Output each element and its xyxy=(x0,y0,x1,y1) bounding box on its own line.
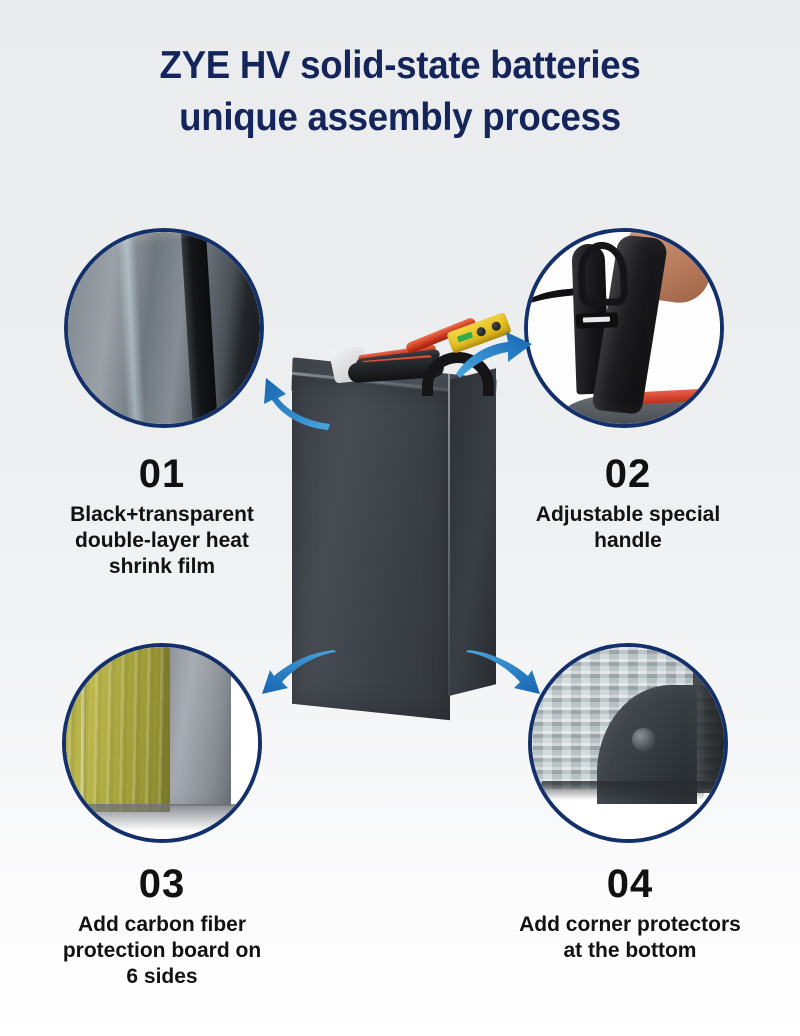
arrow-to-step-01-icon xyxy=(252,372,332,432)
infographic-poster: ZYE HV solid-state batteries unique asse… xyxy=(0,0,800,1036)
step-description-02: Adjustable special handle xyxy=(478,502,778,554)
callout-step-04 xyxy=(528,643,728,843)
callout-step-01 xyxy=(64,228,264,428)
step-description-03: Add carbon fiber protection board on 6 s… xyxy=(12,912,312,990)
photo-carbon-fiber-board xyxy=(66,647,258,839)
photo-circle-02 xyxy=(524,228,724,428)
photo-heat-shrink-film xyxy=(68,232,260,424)
arrow-to-step-04-icon xyxy=(462,648,546,708)
label-step-02: 02 Adjustable special handle xyxy=(478,452,778,554)
arrow-to-step-03-icon xyxy=(256,648,340,708)
page-title: ZYE HV solid-state batteries unique asse… xyxy=(24,40,776,144)
step-description-04: Add corner protectors at the bottom xyxy=(480,912,780,964)
photo-circle-03 xyxy=(62,643,262,843)
label-step-01: 01 Black+transparent double-layer heat s… xyxy=(12,452,312,580)
photo-corner-protector xyxy=(532,647,724,839)
battery-side-face xyxy=(450,368,496,695)
label-step-03: 03 Add carbon fiber protection board on … xyxy=(12,862,312,990)
photo-circle-04 xyxy=(528,643,728,843)
step-number-03: 03 xyxy=(12,862,312,906)
callout-step-02 xyxy=(524,228,724,428)
step-description-01: Black+transparent double-layer heat shri… xyxy=(12,502,312,580)
photo-velcro-handle xyxy=(528,232,720,424)
callout-step-03 xyxy=(62,643,262,843)
label-step-04: 04 Add corner protectors at the bottom xyxy=(480,862,780,964)
photo-circle-01 xyxy=(64,228,264,428)
step-number-04: 04 xyxy=(480,862,780,906)
step-number-01: 01 xyxy=(12,452,312,496)
battery-corner-edge xyxy=(448,374,450,696)
step-number-02: 02 xyxy=(478,452,778,496)
arrow-to-step-02-icon xyxy=(452,318,536,380)
